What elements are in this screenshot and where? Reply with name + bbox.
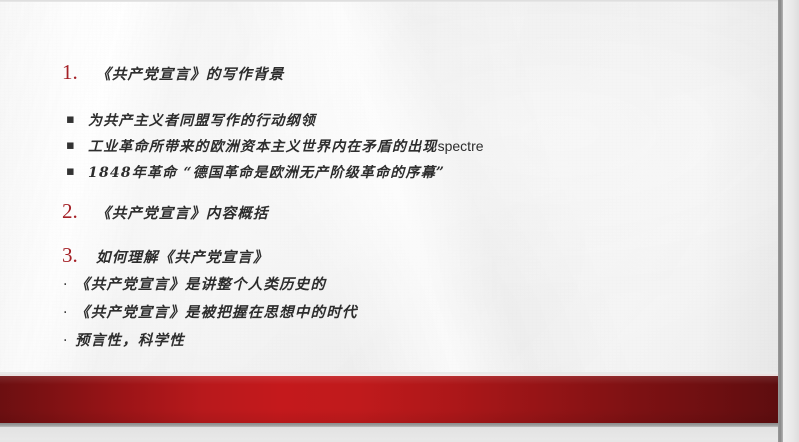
bullet-item: ▪ 为共产主义者同盟写作的行动纲领 [66, 110, 316, 130]
top-hairline [0, 0, 799, 2]
sub-bullet-item: · 《共产党宣言》是讲整个人类历史的 [63, 273, 326, 294]
section-1-heading-row: 1. 《共产党宣言》的写作背景 [62, 60, 284, 85]
section-3-heading-row: 3. 如何理解《共产党宣言》 [62, 243, 269, 268]
bullet-item: ▪ 1848年革命 “德国革命是欧洲无产阶级革命的序幕” [66, 162, 445, 182]
section-2-number: 2. [62, 199, 96, 224]
band-below-strip [0, 427, 778, 440]
bullet-text: 1848年革命 “德国革命是欧洲无产阶级革命的序幕” [88, 162, 445, 182]
bullet-marker-icon: ▪ [66, 167, 88, 180]
bullet-marker-icon: ▪ [66, 141, 88, 154]
bullet-text: 工业革命所带来的欧洲资本主义世界内在矛盾的出现spectre [88, 136, 484, 156]
bullet-text: 为共产主义者同盟写作的行动纲领 [88, 110, 316, 130]
slide-footer-band [0, 372, 778, 440]
sub-bullet-item: · 预言性，科学性 [63, 329, 185, 350]
section-3-number: 3. [62, 243, 96, 268]
viewer-right-surround [783, 0, 799, 442]
sub-bullet-text: 《共产党宣言》是被把握在思想中的时代 [75, 301, 358, 322]
slide-content: 1. 《共产党宣言》的写作背景 ▪ 为共产主义者同盟写作的行动纲领 ▪ 工业革命… [0, 2, 778, 374]
sub-bullet-text: 《共产党宣言》是讲整个人类历史的 [75, 273, 326, 294]
slide-viewer: 1. 《共产党宣言》的写作背景 ▪ 为共产主义者同盟写作的行动纲领 ▪ 工业革命… [0, 0, 799, 442]
bullet-text-english: spectre [438, 138, 484, 154]
section-1-number: 1. [62, 60, 96, 85]
presentation-slide: 1. 《共产党宣言》的写作背景 ▪ 为共产主义者同盟写作的行动纲领 ▪ 工业革命… [0, 2, 778, 440]
bullet-item: ▪ 工业革命所带来的欧洲资本主义世界内在矛盾的出现spectre [66, 136, 484, 156]
sub-bullet-text: 预言性，科学性 [75, 329, 185, 350]
sub-bullet-marker-icon: · [63, 306, 75, 320]
section-2-heading: 《共产党宣言》内容概括 [96, 202, 269, 223]
section-3-heading: 如何理解《共产党宣言》 [96, 246, 269, 267]
sub-bullet-item: · 《共产党宣言》是被把握在思想中的时代 [63, 301, 358, 322]
band-red-gradient [0, 376, 778, 423]
sub-bullet-marker-icon: · [63, 334, 75, 348]
section-1-heading: 《共产党宣言》的写作背景 [96, 63, 284, 84]
sub-bullet-marker-icon: · [63, 278, 75, 292]
section-2-heading-row: 2. 《共产党宣言》内容概括 [62, 199, 269, 224]
bullet-marker-icon: ▪ [66, 115, 88, 128]
